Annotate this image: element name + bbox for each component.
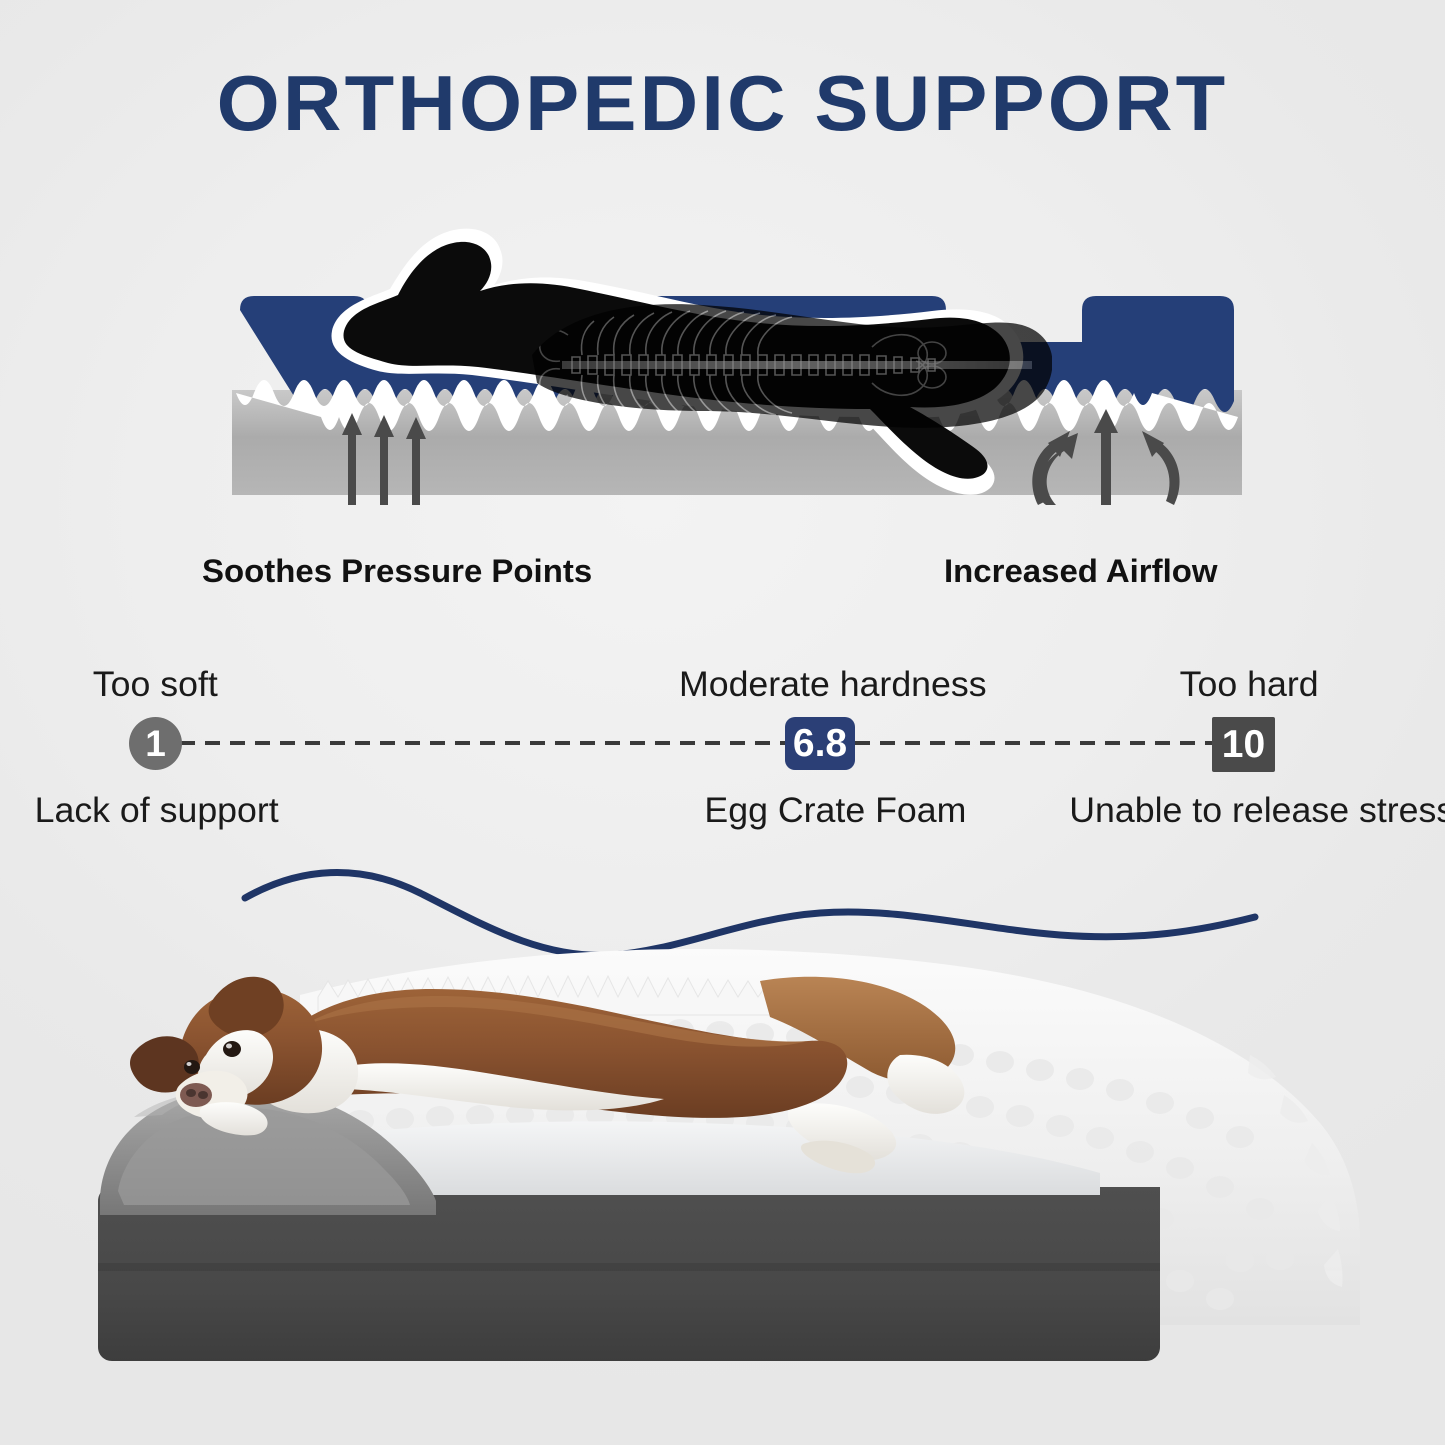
product-photo bbox=[0, 855, 1445, 1375]
scale-right-bottom-label: Unable to release stress bbox=[1069, 791, 1445, 831]
scale-middle-top-label: Moderate hardness bbox=[679, 665, 987, 705]
page-title: ORTHOPEDIC SUPPORT bbox=[0, 58, 1445, 149]
infographic-page: ORTHOPEDIC SUPPORT bbox=[0, 0, 1445, 1445]
foam-cross-section-diagram bbox=[232, 205, 1242, 505]
scale-right-top-label: Too hard bbox=[1180, 665, 1319, 705]
scale-left-top-label: Too soft bbox=[93, 665, 218, 705]
scale-left-bottom-label: Lack of support bbox=[35, 791, 279, 831]
scale-marker-10: 10 bbox=[1212, 717, 1275, 772]
scale-marker-value: 6.8 bbox=[785, 717, 855, 770]
hardness-scale: Too soft 1 Lack of support Moderate hard… bbox=[0, 655, 1445, 845]
scale-marker-1: 1 bbox=[129, 717, 182, 770]
scale-middle-bottom-label: Egg Crate Foam bbox=[704, 791, 966, 831]
airflow-caption: Increased Airflow bbox=[944, 553, 1218, 590]
scale-dashed-track bbox=[155, 741, 1255, 745]
pressure-point-arrows bbox=[342, 413, 426, 505]
pressure-points-caption: Soothes Pressure Points bbox=[202, 553, 592, 590]
navy-wave-line bbox=[245, 873, 1255, 956]
